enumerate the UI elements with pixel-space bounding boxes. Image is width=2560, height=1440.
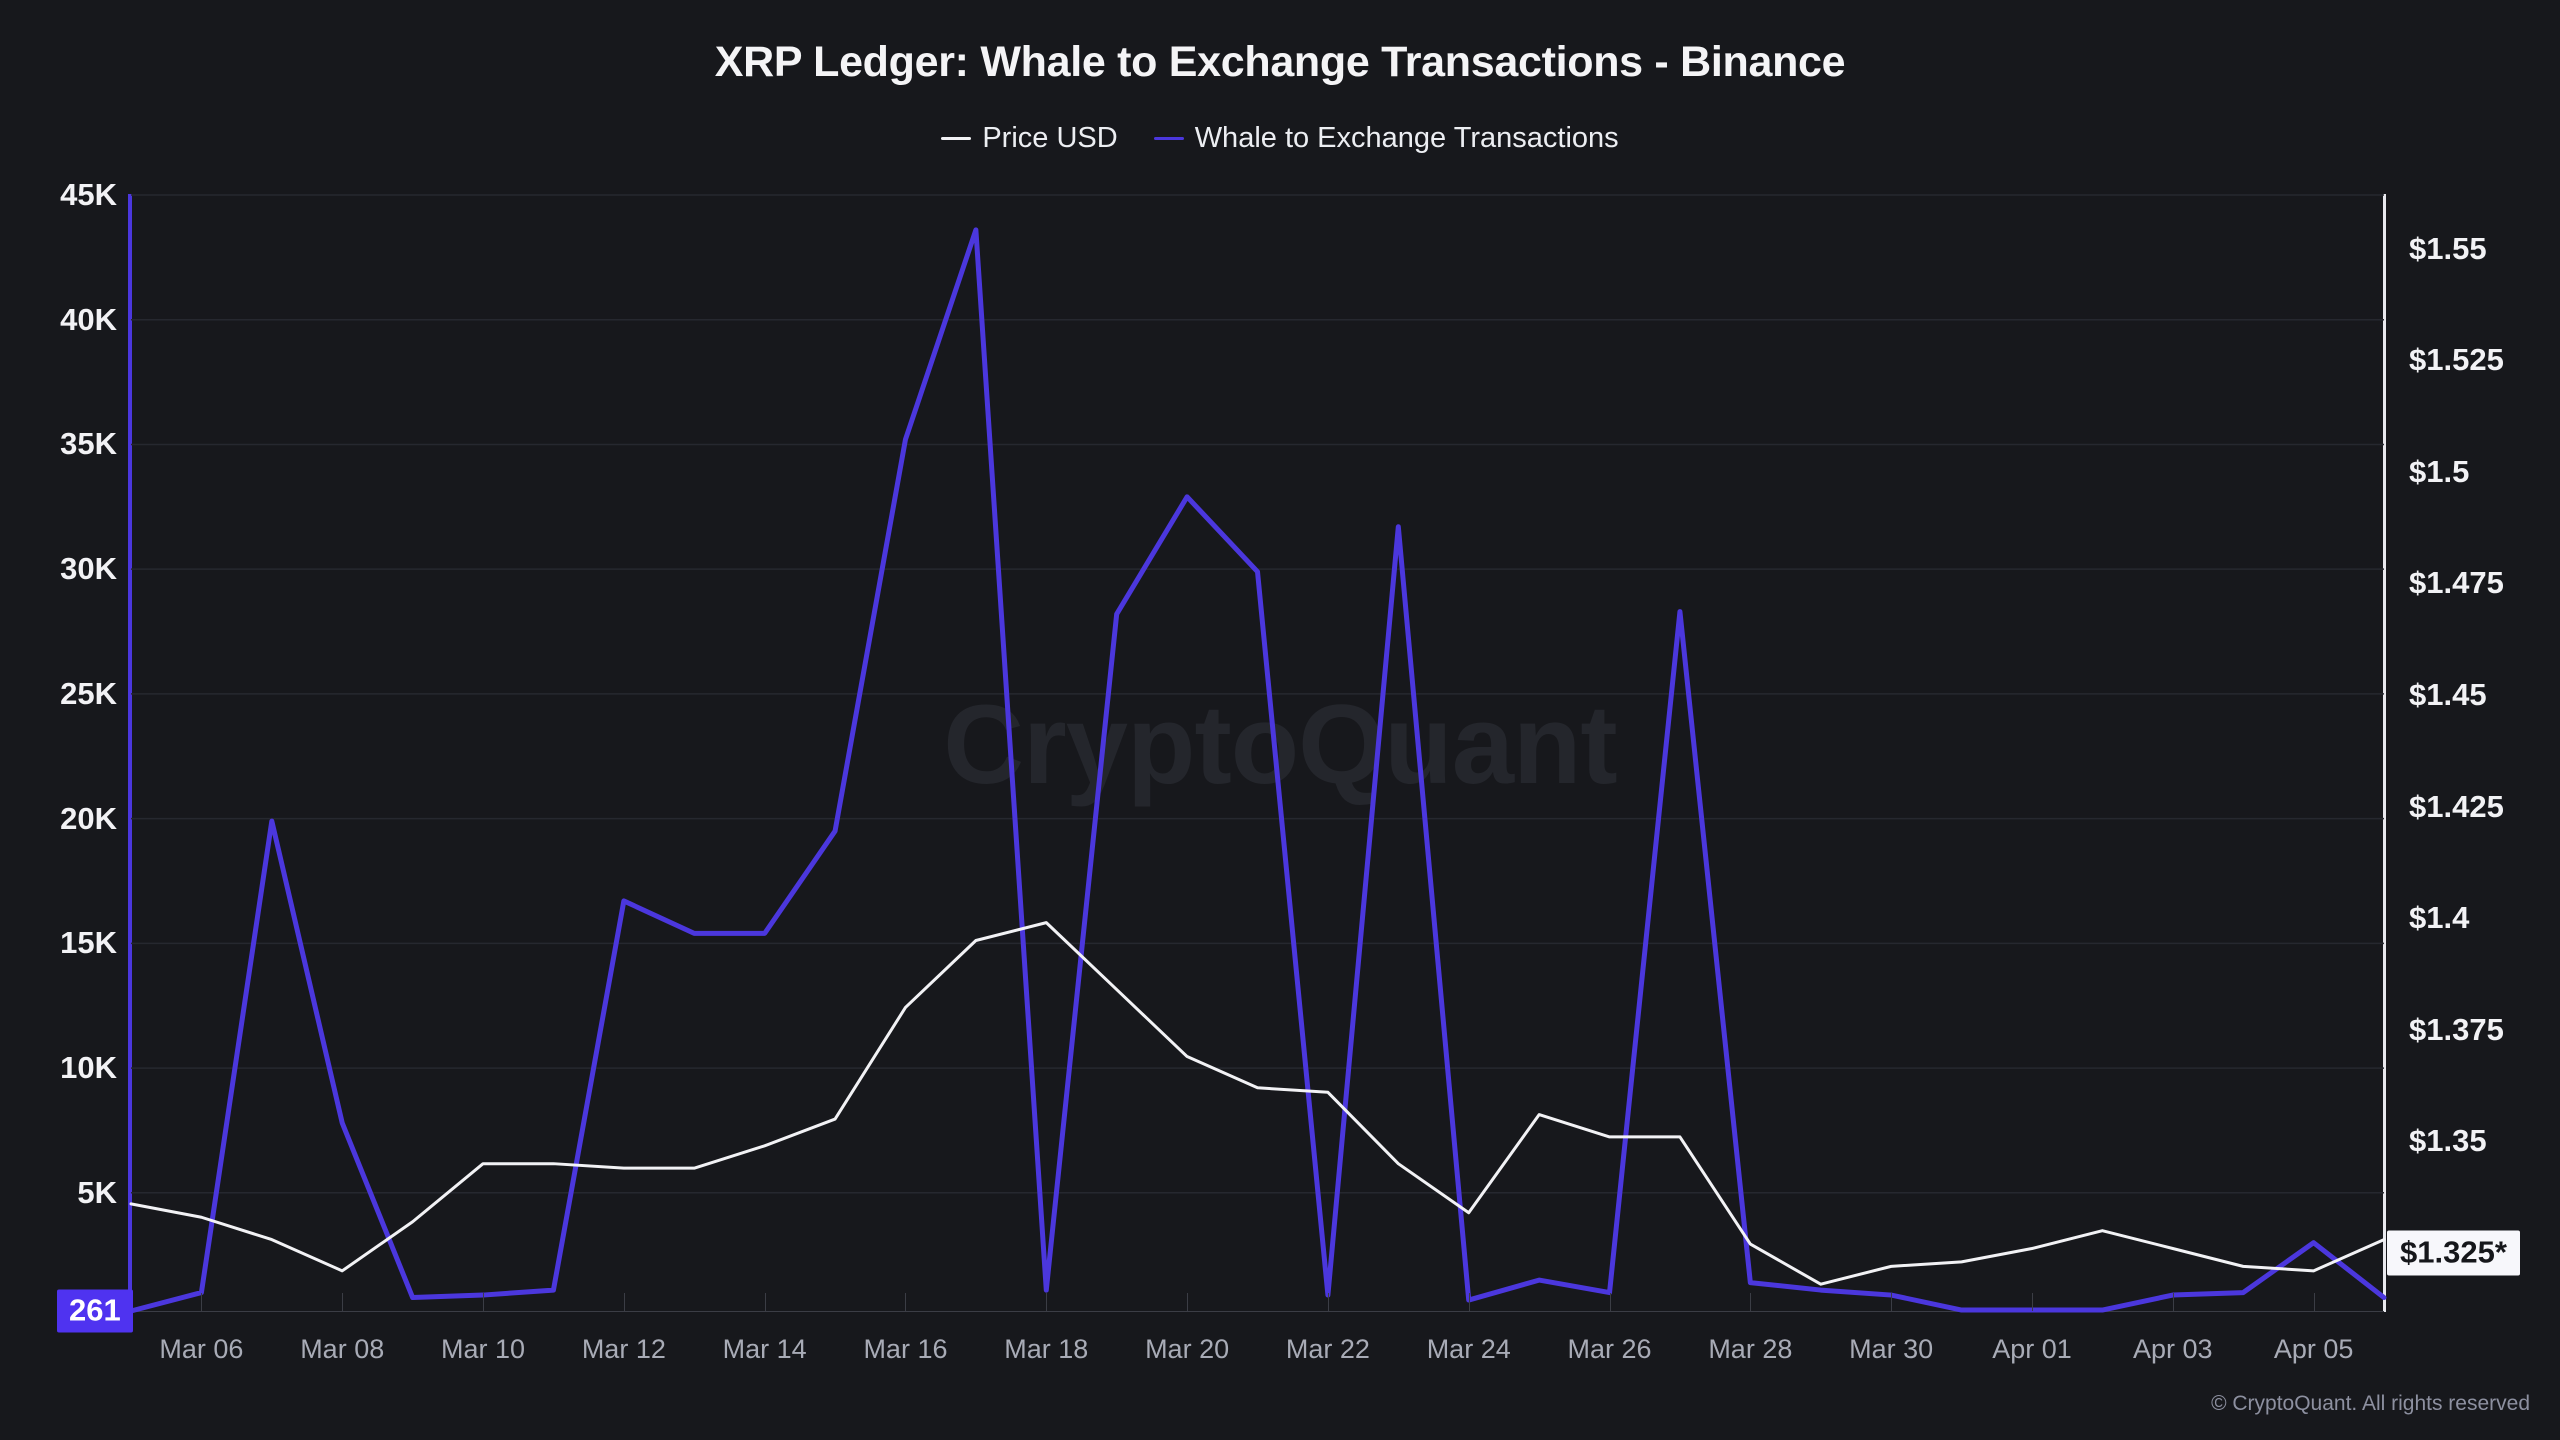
left-axis-tick-label: 10K bbox=[60, 1050, 117, 1086]
x-axis-tick-mark bbox=[1891, 1293, 1892, 1311]
x-axis-tick-label: Mar 30 bbox=[1849, 1334, 1933, 1365]
right-axis-tick-label: $1.35 bbox=[2409, 1123, 2487, 1159]
x-axis-tick-label: Mar 24 bbox=[1427, 1334, 1511, 1365]
right-axis-tick-label: $1.425 bbox=[2409, 789, 2504, 825]
right-axis-tick-label: $1.475 bbox=[2409, 565, 2504, 601]
x-axis-tick-mark bbox=[2032, 1293, 2033, 1311]
series-line-whale-to-exchange bbox=[131, 230, 2384, 1311]
left-axis-tick-label: 20K bbox=[60, 801, 117, 837]
left-axis-tick-label: 40K bbox=[60, 302, 117, 338]
left-axis-tick-label: 25K bbox=[60, 676, 117, 712]
x-axis-tick-mark bbox=[624, 1293, 625, 1311]
x-axis-tick-mark bbox=[1750, 1293, 1751, 1311]
x-axis-tick-mark bbox=[2314, 1293, 2315, 1311]
x-axis-tick-label: Mar 26 bbox=[1568, 1334, 1652, 1365]
x-axis-tick-mark bbox=[1610, 1293, 1611, 1311]
x-axis-tick-mark bbox=[1469, 1293, 1470, 1311]
left-axis-tick-label: 35K bbox=[60, 426, 117, 462]
right-axis-tick-label: $1.55 bbox=[2409, 231, 2487, 267]
line-swatch-icon bbox=[1154, 137, 1184, 140]
x-axis-tick-label: Mar 18 bbox=[1004, 1334, 1088, 1365]
left-axis-tick-label: 15K bbox=[60, 925, 117, 961]
x-axis-tick-label: Mar 22 bbox=[1286, 1334, 1370, 1365]
right-axis-tick-label: $1.4 bbox=[2409, 900, 2469, 936]
right-axis-tick-label: $1.5 bbox=[2409, 454, 2469, 490]
plot-area bbox=[131, 195, 2384, 1311]
x-axis-tick-label: Apr 05 bbox=[2274, 1334, 2354, 1365]
chart-container: XRP Ledger: Whale to Exchange Transactio… bbox=[0, 0, 2560, 1440]
right-axis-tick-label: $1.375 bbox=[2409, 1012, 2504, 1048]
x-axis-tick-label: Mar 20 bbox=[1145, 1334, 1229, 1365]
x-axis-tick-label: Apr 01 bbox=[1992, 1334, 2072, 1365]
right-axis-tick-label: $1.45 bbox=[2409, 677, 2487, 713]
chart-legend: Price USD Whale to Exchange Transactions bbox=[0, 122, 2560, 155]
left-axis-tick-label: 30K bbox=[60, 551, 117, 587]
x-axis-tick-label: Mar 16 bbox=[863, 1334, 947, 1365]
copyright-credit: © CryptoQuant. All rights reserved bbox=[2211, 1392, 2530, 1416]
gridlines bbox=[131, 195, 2384, 1193]
x-axis-tick-mark bbox=[1187, 1293, 1188, 1311]
left-axis-current-value-badge: 261 bbox=[57, 1290, 133, 1333]
page-title: XRP Ledger: Whale to Exchange Transactio… bbox=[0, 38, 2560, 87]
line-swatch-icon bbox=[941, 137, 971, 140]
x-axis-tick-mark bbox=[483, 1293, 484, 1311]
x-axis-tick-mark bbox=[342, 1293, 343, 1311]
x-axis-tick-label: Mar 08 bbox=[300, 1334, 384, 1365]
series-line-price-usd bbox=[131, 923, 2384, 1285]
left-axis-tick-label: 45K bbox=[60, 177, 117, 213]
x-axis-tick-mark bbox=[765, 1293, 766, 1311]
legend-label: Whale to Exchange Transactions bbox=[1195, 122, 1619, 155]
x-axis-tick-mark bbox=[201, 1293, 202, 1311]
x-axis-tick-label: Mar 28 bbox=[1708, 1334, 1792, 1365]
legend-item-price-usd[interactable]: Price USD bbox=[941, 122, 1117, 155]
x-axis-tick-mark bbox=[2173, 1293, 2174, 1311]
x-axis-tick-label: Mar 10 bbox=[441, 1334, 525, 1365]
x-axis-tick-label: Mar 12 bbox=[582, 1334, 666, 1365]
legend-item-whale-to-exchange[interactable]: Whale to Exchange Transactions bbox=[1154, 122, 1619, 155]
left-axis-tick-label: 5K bbox=[77, 1175, 117, 1211]
right-axis-current-value-badge: $1.325* bbox=[2387, 1230, 2520, 1275]
x-axis-tick-mark bbox=[1328, 1293, 1329, 1311]
x-axis-tick-mark bbox=[905, 1293, 906, 1311]
x-axis-tick-label: Mar 14 bbox=[723, 1334, 807, 1365]
right-axis-tick-label: $1.525 bbox=[2409, 342, 2504, 378]
legend-label: Price USD bbox=[982, 122, 1117, 155]
x-axis-tick-label: Apr 03 bbox=[2133, 1334, 2213, 1365]
x-axis-tick-mark bbox=[1046, 1293, 1047, 1311]
x-axis-tick-label: Mar 06 bbox=[159, 1334, 243, 1365]
plot-svg bbox=[131, 195, 2384, 1311]
